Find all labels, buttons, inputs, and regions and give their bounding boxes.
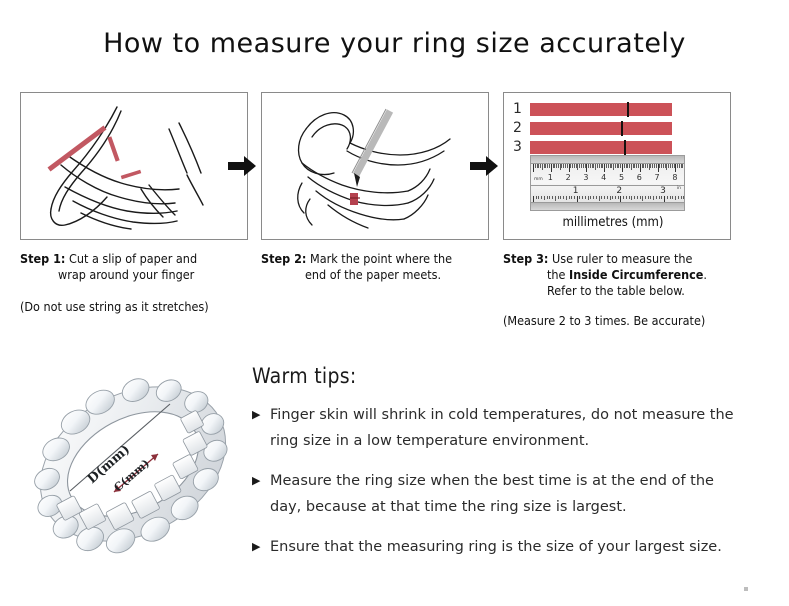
step-1-caption: Step 1: Cut a slip of paper and wrap aro… bbox=[20, 251, 248, 283]
hand-marking-paper-illustration bbox=[262, 93, 488, 239]
tip-item-2: ▶ Measure the ring size when the best ti… bbox=[252, 468, 772, 520]
step-3-column: 1 2 3 12345678 mm 123 in bbox=[503, 92, 731, 329]
arrow-right-icon-1 bbox=[228, 154, 256, 178]
step-2-line1: Mark the point where the bbox=[310, 251, 452, 266]
step-2-panel bbox=[261, 92, 489, 240]
ruler-cm-number: 2 bbox=[566, 174, 571, 182]
tip-text-2: Measure the ring size when the best time… bbox=[270, 468, 740, 520]
step-1-panel bbox=[20, 92, 248, 240]
warm-tips-heading: Warm tips: bbox=[252, 364, 772, 388]
step-3-line2-bold: Inside Circumference bbox=[569, 267, 703, 282]
ruler-inch-unit: in bbox=[677, 186, 681, 191]
paper-strip-row-1: 1 bbox=[513, 102, 672, 117]
ruler-cm-number: 3 bbox=[583, 174, 588, 182]
paper-strip-1 bbox=[530, 103, 672, 116]
strip-number-2: 2 bbox=[513, 121, 530, 136]
ruler-bottom-band bbox=[531, 203, 684, 210]
corner-artifact bbox=[744, 587, 748, 591]
lower-section: D(mm) C(mm) Warm tips: ▶ Finger skin wil… bbox=[0, 348, 789, 606]
step-2-column: Step 2: Mark the point where the end of … bbox=[261, 92, 489, 283]
step-3-line2: the Inside Circumference. bbox=[503, 267, 731, 283]
bullet-triangle-icon-3: ▶ bbox=[252, 534, 270, 560]
ruler-inch-number: 3 bbox=[660, 187, 666, 195]
step-3-panel: 1 2 3 12345678 mm 123 in bbox=[503, 92, 731, 240]
ruler-cm-number: 1 bbox=[548, 174, 553, 182]
paper-strip-row-2: 2 bbox=[513, 121, 672, 136]
ruler-graphic: 12345678 mm 123 in bbox=[530, 155, 685, 211]
step-2-caption: Step 2: Mark the point where the end of … bbox=[261, 251, 489, 283]
strip-number-3: 3 bbox=[513, 140, 530, 155]
ruler-inch-number: 2 bbox=[616, 187, 622, 195]
step-3-note: (Measure 2 to 3 times. Be accurate) bbox=[503, 313, 731, 329]
step-3-line2-prefix: the bbox=[547, 267, 569, 282]
step-2-label: Step 2: bbox=[261, 251, 306, 266]
ruler-cm-number: 6 bbox=[637, 174, 642, 182]
ruler-cm-number: 7 bbox=[655, 174, 660, 182]
step-1-line2: wrap around your finger bbox=[20, 267, 248, 283]
step-3-label: Step 3: bbox=[503, 251, 548, 266]
tip-item-1: ▶ Finger skin will shrink in cold temper… bbox=[252, 402, 772, 454]
step-1-note: (Do not use string as it stretches) bbox=[20, 299, 248, 315]
paper-strip-3 bbox=[530, 141, 672, 154]
strip-mark-1 bbox=[627, 102, 629, 117]
step-3-caption: Step 3: Use ruler to measure the the Ins… bbox=[503, 251, 731, 299]
arrow-right-icon-2 bbox=[470, 154, 498, 178]
step-3-line2-end: . bbox=[703, 267, 707, 282]
eternity-ring-illustration: D(mm) C(mm) bbox=[18, 356, 248, 576]
step-1-label: Step 1: bbox=[20, 251, 65, 266]
ruler-cm-number: 4 bbox=[601, 174, 606, 182]
step-1-column: Step 1: Cut a slip of paper and wrap aro… bbox=[20, 92, 248, 315]
page-title: How to measure your ring size accurately bbox=[0, 28, 789, 59]
ruler-cm-number: 8 bbox=[672, 174, 677, 182]
ruler-top-band bbox=[531, 156, 684, 163]
hand-with-paper-slip-illustration bbox=[21, 93, 247, 239]
ruler-unit-caption: millimetres (mm) bbox=[504, 215, 722, 230]
strip-mark-2 bbox=[621, 121, 623, 136]
step-3-line3: Refer to the table below. bbox=[503, 283, 731, 299]
paper-strip-2 bbox=[530, 122, 672, 135]
ruler-cm-number: 5 bbox=[619, 174, 624, 182]
bullet-triangle-icon-2: ▶ bbox=[252, 468, 270, 520]
paper-strip-row-3: 3 bbox=[513, 140, 672, 155]
step-2-line2: end of the paper meets. bbox=[261, 267, 489, 283]
bullet-triangle-icon-1: ▶ bbox=[252, 402, 270, 454]
strip-mark-3 bbox=[624, 140, 626, 155]
tip-text-3: Ensure that the measuring ring is the si… bbox=[270, 534, 740, 560]
ruler-inch-number: 1 bbox=[573, 187, 579, 195]
step-3-line1: Use ruler to measure the bbox=[552, 251, 692, 266]
warm-tips-section: Warm tips: ▶ Finger skin will shrink in … bbox=[252, 364, 772, 560]
tip-text-1: Finger skin will shrink in cold temperat… bbox=[270, 402, 740, 454]
ruler-mm-unit: mm bbox=[534, 177, 543, 182]
ring-diagram: D(mm) C(mm) bbox=[18, 356, 248, 576]
tip-item-3: ▶ Ensure that the measuring ring is the … bbox=[252, 534, 772, 560]
strip-number-1: 1 bbox=[513, 102, 530, 117]
steps-row: Step 1: Cut a slip of paper and wrap aro… bbox=[0, 92, 789, 342]
step-1-line1: Cut a slip of paper and bbox=[69, 251, 197, 266]
